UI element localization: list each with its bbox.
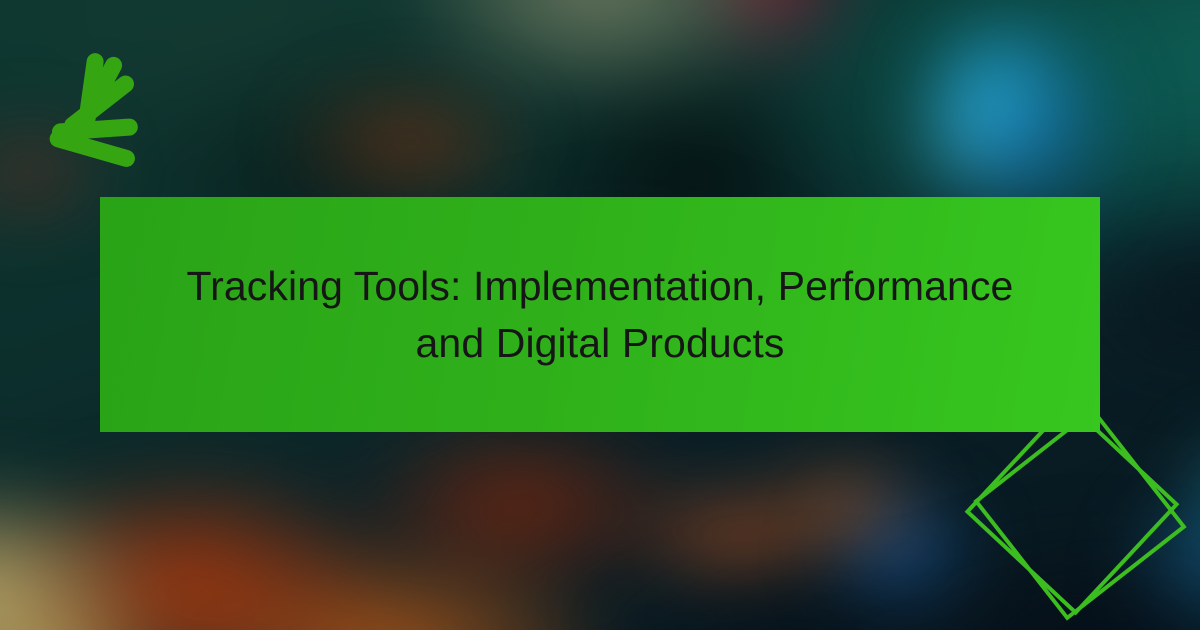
title-banner: Tracking Tools: Implementation, Performa… (100, 197, 1100, 432)
sparkle-burst-icon (0, 0, 200, 170)
rotated-square-outline-2 (973, 407, 1186, 620)
page-title: Tracking Tools: Implementation, Performa… (160, 258, 1040, 371)
rotated-squares-decoration (970, 400, 1200, 630)
share-card: Tracking Tools: Implementation, Performa… (0, 0, 1200, 630)
